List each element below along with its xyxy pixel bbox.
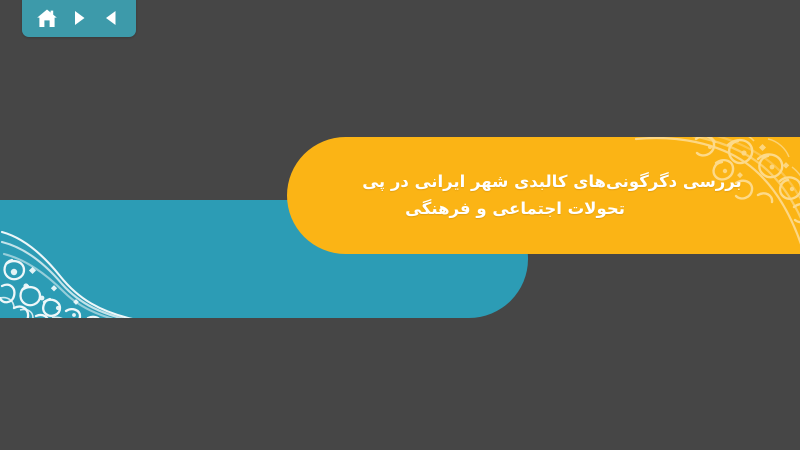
title-line-2: تحولات اجتماعی و فرهنگی: [309, 196, 721, 223]
back-button[interactable]: [98, 6, 124, 30]
navigation-bar: [22, 0, 136, 37]
slide-canvas: بررسی دگرگونی‌های کالبدی شهر ایرانی در پ…: [0, 0, 800, 450]
slide-title: بررسی دگرگونی‌های کالبدی شهر ایرانی در پ…: [287, 169, 800, 222]
teal-arabesque-ornament-icon: [0, 200, 150, 318]
home-button[interactable]: [34, 6, 60, 30]
triangle-right-icon: [69, 8, 89, 28]
house-icon: [36, 8, 58, 29]
triangle-left-icon: [101, 8, 121, 28]
forward-button[interactable]: [66, 6, 92, 30]
title-banner: بررسی دگرگونی‌های کالبدی شهر ایرانی در پ…: [287, 137, 800, 254]
title-line-1: بررسی دگرگونی‌های کالبدی شهر ایرانی در پ…: [309, 169, 795, 196]
